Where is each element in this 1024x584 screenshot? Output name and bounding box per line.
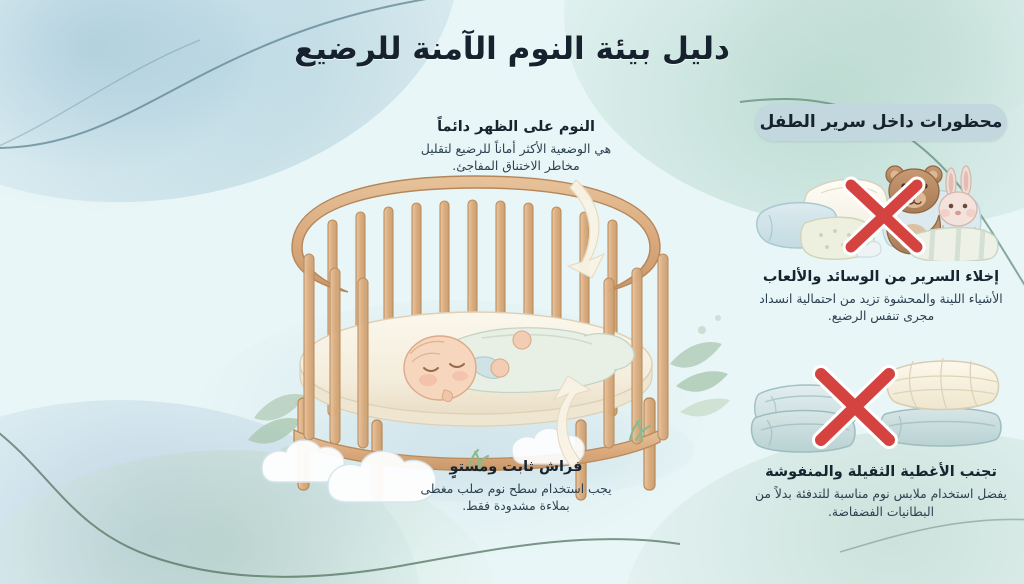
risk-no-heavy-blankets-title: تجنب الأغطية الثقيلة والمنفوشة	[742, 463, 1020, 483]
page-title: دليل بيئة النوم الآمنة للرضيع	[0, 31, 1024, 67]
risk-no-pillows-toys-body: الأشياء اللينة والمحشوة تزيد من احتمالية…	[742, 291, 1020, 327]
leaf-sprig-right	[670, 315, 730, 416]
callout-firm-mattress: فراش ثابت ومستوٍ يجب استخدام سطح نوم صلب…	[404, 458, 628, 516]
callout-back-sleep-title: النوم على الظهر دائماً	[404, 118, 628, 138]
folded-blankets-and-quilt-illustration	[747, 352, 1015, 456]
risk-item-no-pillows-toys: إخلاء السرير من الوسائد والألعاب الأشياء…	[742, 157, 1020, 326]
risk-item-no-heavy-blankets: تجنب الأغطية الثقيلة والمنفوشة يفضل استخ…	[742, 352, 1020, 521]
risk-no-pillows-toys-title: إخلاء السرير من الوسائد والألعاب	[742, 268, 1020, 288]
infographic-canvas: دليل بيئة النوم الآمنة للرضيع	[0, 0, 1024, 584]
prohibited-items-panel: محظورات داخل سرير الطفل	[742, 104, 1020, 521]
prohibited-items-header: محظورات داخل سرير الطفل	[755, 104, 1007, 141]
callout-firm-mattress-title: فراش ثابت ومستوٍ	[404, 458, 628, 478]
crib-scene	[232, 168, 732, 508]
callout-back-sleep: النوم على الظهر دائماً هي الوضعية الأكثر…	[404, 118, 628, 176]
crib-illustration	[232, 168, 732, 508]
risk-no-heavy-blankets-body: يفضل استخدام ملابس نوم مناسبة للتدفئة بد…	[742, 486, 1020, 522]
callout-firm-mattress-body: يجب استخدام سطح نوم صلب مغطى بملاءة مشدو…	[404, 481, 628, 517]
callout-back-sleep-body: هي الوضعية الأكثر أماناً للرضيع لتقليل م…	[404, 141, 628, 177]
pillows-and-stuffed-toys-illustration	[747, 157, 1015, 261]
